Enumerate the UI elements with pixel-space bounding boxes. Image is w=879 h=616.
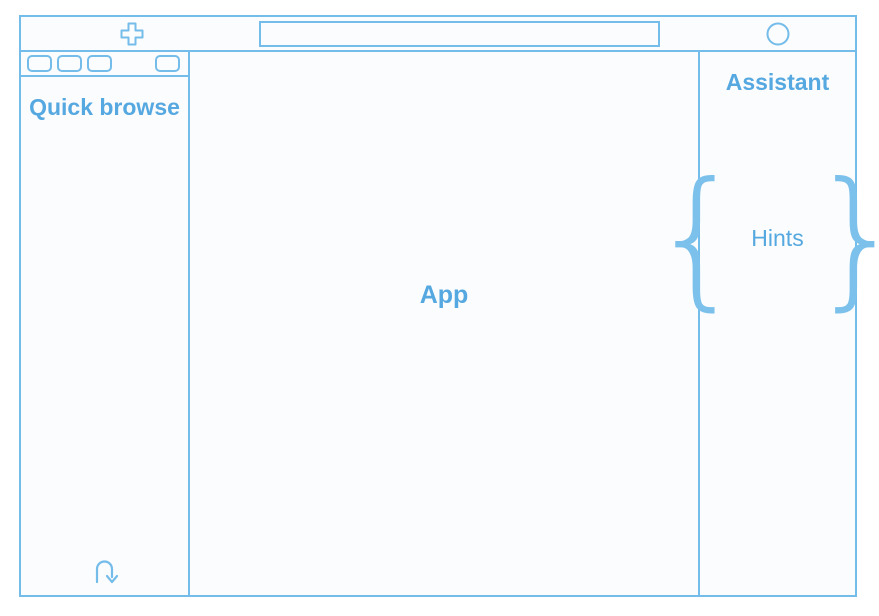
top-toolbar [21, 17, 855, 52]
sidebar-item-tab-3[interactable] [87, 55, 112, 72]
sidebar-item-tab-4[interactable] [155, 55, 180, 72]
address-input[interactable] [259, 21, 660, 47]
browser-window-frame: Quick browse App Assistant { Hints } [19, 15, 857, 597]
assistant-heading: Assistant [700, 69, 855, 96]
window-body: Quick browse App Assistant { Hints } [21, 52, 855, 595]
assistant-panel: Assistant { Hints } [700, 52, 855, 595]
sidebar-item-tab-1[interactable] [27, 55, 52, 72]
circle-icon[interactable] [765, 21, 791, 47]
app-label: App [420, 281, 469, 310]
toolbar-center-section [243, 17, 700, 50]
quick-browse-sidebar: Quick browse [21, 52, 190, 595]
plus-icon[interactable] [119, 21, 145, 47]
toolbar-left-section [21, 17, 243, 50]
sidebar-heading: Quick browse [21, 93, 188, 122]
hints-label: Hints [745, 225, 809, 252]
sidebar-item-tab-2[interactable] [57, 55, 82, 72]
right-brace-icon: } [810, 192, 879, 285]
sidebar-footer [21, 557, 188, 587]
sidebar-tab-strip [21, 52, 188, 77]
left-brace-icon: { [650, 192, 745, 285]
u-turn-arrow-icon[interactable] [88, 557, 122, 587]
toolbar-right-section [700, 17, 855, 50]
app-content-area: App [190, 52, 700, 595]
hints-block: { Hints } [700, 192, 855, 285]
